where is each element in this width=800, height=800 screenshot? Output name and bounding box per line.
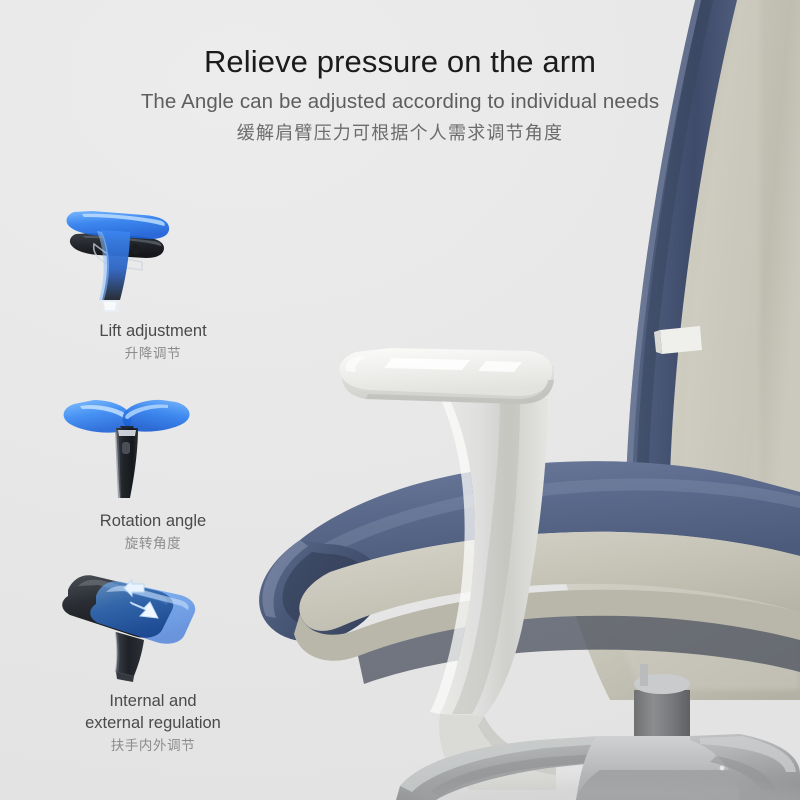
feature-label-cn: 升降调节 bbox=[38, 344, 268, 364]
feature-label-cn: 旋转角度 bbox=[38, 534, 268, 554]
feature-rotation-angle: Rotation angle 旋转角度 bbox=[38, 372, 268, 554]
feature-lift-adjustment: Lift adjustment 升降调节 bbox=[38, 182, 268, 364]
feature-label-cn: 扶手内外调节 bbox=[38, 736, 268, 756]
armrest-rotation-icon bbox=[38, 372, 268, 504]
feature-label-en: Rotation angle bbox=[38, 510, 268, 532]
armrest-lift-icon bbox=[38, 182, 268, 314]
feature-label-en: Internal and external regulation bbox=[38, 690, 268, 734]
product-feature-image: Relieve pressure on the arm The Angle ca… bbox=[0, 0, 800, 800]
feature-label-en: Lift adjustment bbox=[38, 320, 268, 342]
armrest-slide-icon bbox=[38, 552, 268, 684]
feature-internal-external-regulation: Internal and external regulation 扶手内外调节 bbox=[38, 552, 268, 756]
